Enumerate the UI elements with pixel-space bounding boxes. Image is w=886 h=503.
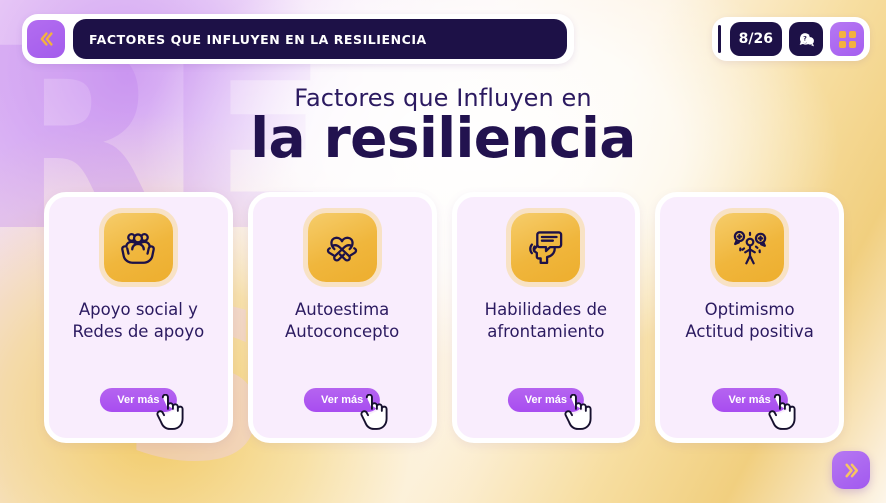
toolbar-divider	[718, 25, 721, 53]
slide-canvas: RE S FACTORES QUE INFLUYEN EN LA RESILIE…	[0, 0, 886, 503]
question-chat-icon: ?	[796, 29, 817, 50]
next-button[interactable]	[832, 451, 870, 489]
person-positive-thoughts-icon	[728, 226, 772, 270]
hands-holding-people-icon	[116, 226, 160, 270]
card-label: Habilidades de afrontamiento	[477, 299, 615, 343]
factor-card[interactable]: Apoyo social y Redes de apoyo Ver más	[44, 192, 233, 443]
self-hug-heart-icon	[320, 226, 364, 270]
card-icon-tile	[104, 213, 173, 282]
top-bar-right-group: 8/26 ?	[712, 17, 870, 61]
hero-title: la resiliencia	[0, 109, 886, 168]
back-button[interactable]	[27, 20, 65, 58]
card-label: Optimismo Actitud positiva	[677, 299, 821, 343]
menu-grid-button[interactable]	[830, 22, 864, 56]
slide-title-text: FACTORES QUE INFLUYEN EN LA RESILIENCIA	[89, 32, 427, 47]
factor-card[interactable]: Optimismo Actitud positiva Ver más	[655, 192, 844, 443]
card-icon-tile	[511, 213, 580, 282]
top-bar: FACTORES QUE INFLUYEN EN LA RESILIENCIA …	[22, 14, 870, 64]
see-more-button[interactable]: Ver más	[508, 388, 584, 412]
card-label: Apoyo social y Redes de apoyo	[64, 299, 212, 343]
card-icon-tile	[308, 213, 377, 282]
head-speech-bubble-icon	[524, 226, 568, 270]
factor-card[interactable]: Habilidades de afrontamiento Ver más	[452, 192, 641, 443]
card-icon-tile	[715, 213, 784, 282]
help-button[interactable]: ?	[789, 22, 823, 56]
grid-menu-icon	[839, 31, 856, 48]
card-label: Autoestima Autoconcepto	[277, 299, 407, 343]
top-bar-left-group: FACTORES QUE INFLUYEN EN LA RESILIENCIA	[22, 14, 574, 64]
svg-text:?: ?	[803, 34, 807, 42]
slide-counter: 8/26	[730, 22, 782, 56]
factor-card[interactable]: Autoestima Autoconcepto Ver más	[248, 192, 437, 443]
chevron-double-left-icon	[36, 29, 56, 49]
factor-card-list: Apoyo social y Redes de apoyo Ver más	[44, 192, 844, 443]
chevron-double-right-icon	[841, 460, 862, 481]
see-more-button[interactable]: Ver más	[712, 388, 788, 412]
see-more-button[interactable]: Ver más	[100, 388, 176, 412]
slide-title-bar: FACTORES QUE INFLUYEN EN LA RESILIENCIA	[73, 19, 567, 59]
see-more-button[interactable]: Ver más	[304, 388, 380, 412]
